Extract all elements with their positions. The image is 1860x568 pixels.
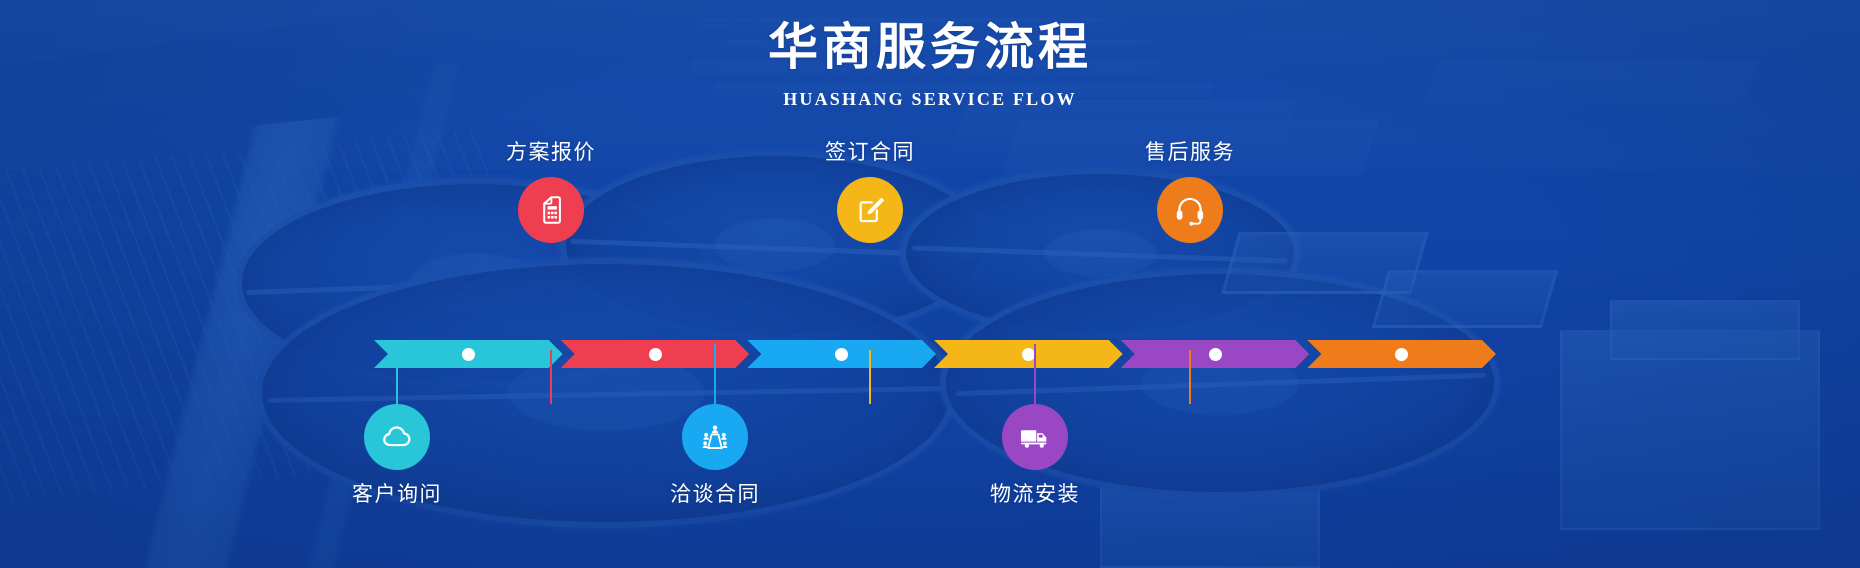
badge-sign-pen[interactable] <box>837 177 903 243</box>
service-flow-banner: 华商服务流程 HUASHANG SERVICE FLOW <box>0 0 1860 568</box>
truck-icon <box>1018 420 1052 454</box>
badge-meeting-table[interactable] <box>682 404 748 470</box>
flow-step-2[interactable]: 方案报价 <box>461 142 641 243</box>
flow-connector-line <box>396 344 398 404</box>
flow-connector-line <box>1189 350 1191 404</box>
flow-segment-6[interactable] <box>1307 340 1496 368</box>
flow-step-3[interactable]: 洽谈合同 <box>625 344 805 505</box>
flow-step-label: 售后服务 <box>1100 142 1280 163</box>
flow-connector-line <box>1034 344 1036 404</box>
meeting-table-icon <box>698 420 732 454</box>
sign-pen-icon <box>853 193 887 227</box>
flow-segment-dot <box>1395 348 1408 361</box>
headset-icon <box>1173 193 1207 227</box>
flow-step-label: 物流安装 <box>945 484 1125 505</box>
badge-calculator[interactable] <box>518 177 584 243</box>
flow-segment-dot <box>1209 348 1222 361</box>
flow-step-1[interactable]: 客户询问 <box>307 344 487 505</box>
badge-truck[interactable] <box>1002 404 1068 470</box>
flow-ribbon <box>374 340 1494 368</box>
flow-segment-dot <box>835 348 848 361</box>
flow-step-4[interactable]: 签订合同 <box>780 142 960 243</box>
flow-step-label: 签订合同 <box>780 142 960 163</box>
flow-connector-line <box>550 350 552 404</box>
flow-step-label: 方案报价 <box>461 142 641 163</box>
flow-step-label: 洽谈合同 <box>625 484 805 505</box>
flow-step-5[interactable]: 物流安装 <box>945 344 1125 505</box>
flow-step-6[interactable]: 售后服务 <box>1100 142 1280 243</box>
cloud-chat-icon <box>380 420 414 454</box>
calculator-icon <box>534 193 568 227</box>
flow-segment-5[interactable] <box>1121 340 1310 368</box>
badge-headset[interactable] <box>1157 177 1223 243</box>
flow-connector-line <box>869 350 871 404</box>
flow-connector-line <box>714 344 716 404</box>
badge-cloud-chat[interactable] <box>364 404 430 470</box>
flow-step-label: 客户询问 <box>307 484 487 505</box>
service-flow-diagram: 客户询问 方案报价 <box>0 0 1860 568</box>
